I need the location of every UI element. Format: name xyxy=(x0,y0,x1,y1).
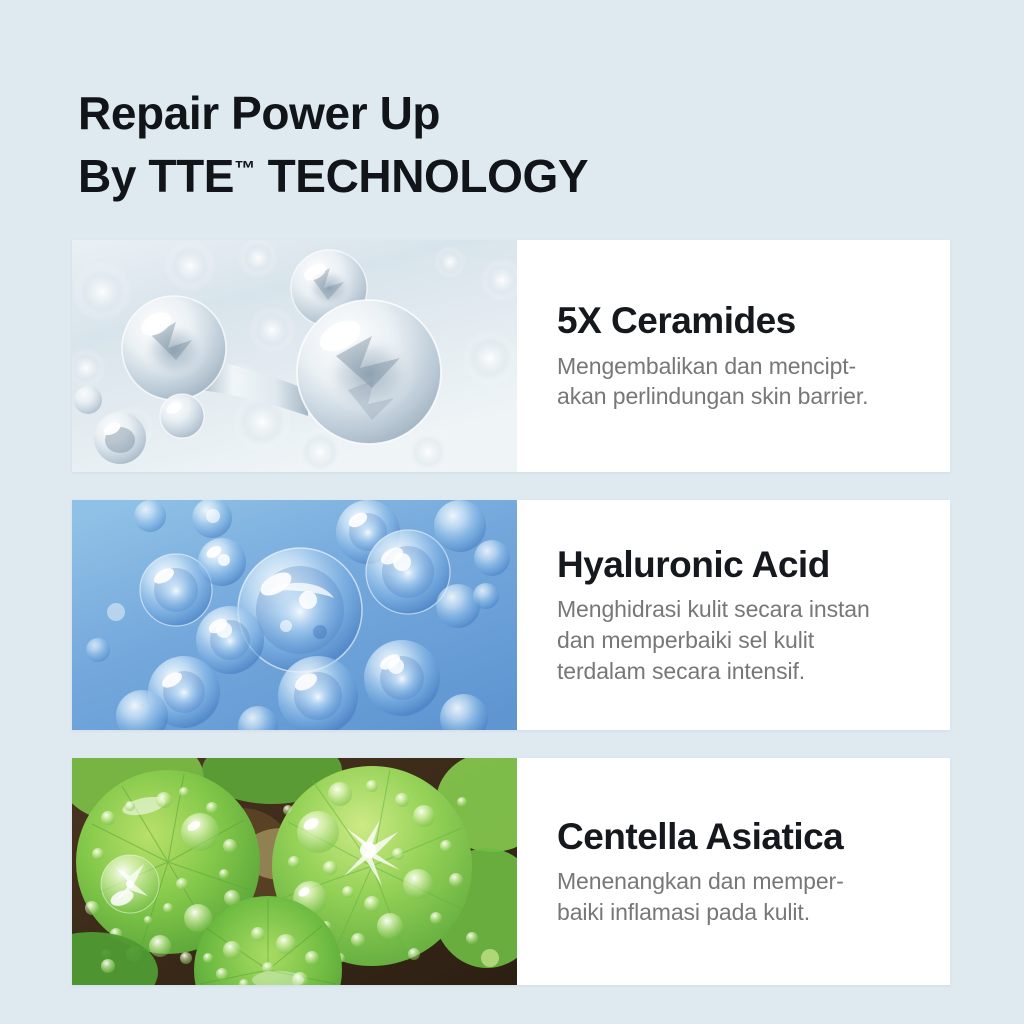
trademark-icon: ™ xyxy=(234,158,255,181)
ingredient-card-list: 5X Ceramides Mengembalikan dan mencipt- … xyxy=(72,240,950,985)
headline-technology-text: TECHNOLOGY xyxy=(255,150,588,202)
ingredient-card: 5X Ceramides Mengembalikan dan mencipt- … xyxy=(72,240,950,472)
ingredient-description: Menghidrasi kulit secara instan dan memp… xyxy=(557,594,924,686)
ingredient-title: Centella Asiatica xyxy=(557,816,924,857)
headline-brand-text: By TTE xyxy=(78,150,234,202)
ingredient-title: Hyaluronic Acid xyxy=(557,544,924,585)
headline-line-2: By TTE™ TECHNOLOGY xyxy=(78,145,958,208)
water-molecule-droplets-image xyxy=(72,240,517,472)
description-line: baiki inflamasi pada kulit. xyxy=(557,897,924,928)
ingredient-title: 5X Ceramides xyxy=(557,300,924,341)
centella-green-leaves-image xyxy=(72,758,517,985)
description-line: Menghidrasi kulit secara instan xyxy=(557,594,924,625)
description-line: dan memperbaiki sel kulit xyxy=(557,625,924,656)
ingredient-description: Menenangkan dan memper- baiki inflamasi … xyxy=(557,866,924,927)
description-line: Menenangkan dan memper- xyxy=(557,866,924,897)
ingredient-card: Centella Asiatica Menenangkan dan memper… xyxy=(72,758,950,985)
ingredient-card: Hyaluronic Acid Menghidrasi kulit secara… xyxy=(72,500,950,730)
ingredient-card-body: Hyaluronic Acid Menghidrasi kulit secara… xyxy=(517,500,950,730)
ingredient-card-body: Centella Asiatica Menenangkan dan memper… xyxy=(517,758,950,985)
description-line: terdalam secara intensif. xyxy=(557,656,924,687)
description-line: akan perlindungan skin barrier. xyxy=(557,381,924,412)
page-title: Repair Power Up By TTE™ TECHNOLOGY xyxy=(78,82,958,209)
blue-water-bubbles-image xyxy=(72,500,517,730)
ingredient-description: Mengembalikan dan mencipt- akan perlindu… xyxy=(557,351,924,412)
description-line: Mengembalikan dan mencipt- xyxy=(557,351,924,382)
ingredient-card-body: 5X Ceramides Mengembalikan dan mencipt- … xyxy=(517,240,950,472)
headline-line-1: Repair Power Up xyxy=(78,82,958,145)
